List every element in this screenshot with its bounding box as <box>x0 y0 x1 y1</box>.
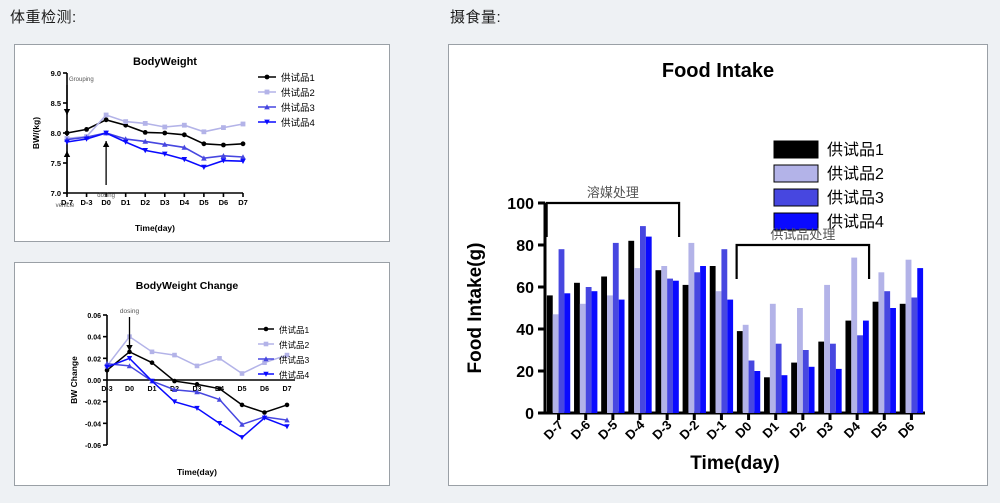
bar-D5-s2 <box>878 272 884 413</box>
legend-swatch-1 <box>774 141 818 158</box>
chart-title: Food Intake <box>662 60 774 82</box>
x-tick-label: D4 <box>841 418 864 441</box>
bar-D-1-s4 <box>727 300 733 413</box>
x-tick-label: D-1 <box>704 417 729 442</box>
bar-D1-s3 <box>776 344 782 413</box>
x-tick-label: D-3 <box>81 198 93 207</box>
annotation-bracket <box>547 203 679 237</box>
y-tick-label: -0.06 <box>85 443 101 450</box>
x-tick-label: D7 <box>283 386 292 393</box>
bar-D0-s4 <box>754 371 760 413</box>
legend-label-2: 供试品2 <box>827 165 884 183</box>
y-tick-label: 0.04 <box>87 335 101 342</box>
x-axis-label: Time(day) <box>177 467 217 477</box>
bodyweight-chart-panel: BodyWeight7.07.58.08.59.0D-7D-3D0D1D2D3D… <box>14 44 390 242</box>
series-marker <box>104 117 109 122</box>
legend-marker-1 <box>264 327 269 332</box>
x-tick-label: D-3 <box>101 386 112 393</box>
bar-D3-s2 <box>824 285 830 413</box>
x-tick-label: D6 <box>219 198 229 207</box>
y-tick-label: 0.02 <box>87 356 101 363</box>
legend-label-1: 供试品1 <box>281 72 315 84</box>
x-tick-label: D-6 <box>568 417 593 442</box>
bar-D6-s2 <box>906 260 912 413</box>
series-marker <box>240 403 245 408</box>
bar-D0-s1 <box>737 331 743 413</box>
annotation-arrow-head <box>64 109 70 115</box>
legend-label-4: 供试品4 <box>279 370 310 380</box>
bar-D3-s4 <box>836 369 842 413</box>
bar-D3-s3 <box>830 344 836 413</box>
bar-D-5-s3 <box>613 243 619 413</box>
bar-D-1-s3 <box>721 249 727 413</box>
series-marker <box>221 143 226 148</box>
series-marker <box>182 132 187 137</box>
y-axis-label: BW/(kg) <box>31 117 41 149</box>
bar-D-4-s1 <box>628 241 634 413</box>
y-tick-label: 0 <box>525 406 534 423</box>
legend-label-3: 供试品3 <box>827 189 884 207</box>
bar-D-1-s1 <box>710 266 716 413</box>
chart-title: BodyWeight <box>133 56 197 68</box>
bar-D1-s1 <box>764 377 770 413</box>
annotation-label: 溶媒处理 <box>587 185 639 200</box>
x-tick-label: D-2 <box>676 417 701 442</box>
series-marker <box>143 121 148 126</box>
bar-D-7-s4 <box>564 293 570 413</box>
bar-D-1-s2 <box>716 291 722 413</box>
series-marker <box>143 130 148 135</box>
bar-D-7-s3 <box>559 249 565 413</box>
y-tick-label: 8.0 <box>51 129 61 138</box>
bar-D-2-s2 <box>688 243 694 413</box>
series-marker <box>217 386 222 391</box>
x-tick-label: D-4 <box>622 417 648 443</box>
series-marker <box>221 125 226 130</box>
x-tick-label: D-5 <box>595 417 620 442</box>
series-marker <box>182 123 187 128</box>
annotation-label: vehicle <box>56 203 75 209</box>
series-marker <box>241 141 246 146</box>
x-tick-label: D0 <box>101 198 111 207</box>
y-tick-label: 7.0 <box>51 189 61 198</box>
bar-D6-s1 <box>900 304 906 413</box>
bar-D5-s1 <box>873 302 879 413</box>
annotation-arrow-head <box>126 345 132 351</box>
legend-label-3: 供试品3 <box>279 355 310 365</box>
x-tick-label: D6 <box>260 386 269 393</box>
y-axis-label: BW Change <box>69 356 79 404</box>
series-line-1 <box>67 120 243 145</box>
annotation-label: dosing <box>97 193 115 199</box>
bar-D4-s4 <box>863 321 869 413</box>
food-intake-chart-panel: Food Intake供试品1供试品2供试品3供试品4020406080100F… <box>448 44 988 486</box>
annotation-arrow-head <box>64 151 70 157</box>
bar-D6-s3 <box>911 298 917 414</box>
series-marker <box>284 424 289 429</box>
series-marker <box>172 353 177 358</box>
chart-title: BodyWeight Change <box>136 280 239 292</box>
bar-D2-s1 <box>791 363 797 413</box>
x-tick-label: D-7 <box>541 417 566 442</box>
x-axis-label: Time(day) <box>690 453 779 474</box>
x-tick-label: D3 <box>160 198 170 207</box>
bar-D2-s4 <box>809 367 815 413</box>
series-marker <box>104 113 109 118</box>
bodyweight-section-label: 体重检测: <box>10 6 77 27</box>
legend-swatch-3 <box>774 189 818 206</box>
y-tick-label: -0.02 <box>85 400 101 407</box>
bar-D0-s3 <box>749 361 755 414</box>
bodyweight-change-chart: BodyWeight Change-0.06-0.04-0.020.000.02… <box>15 263 389 485</box>
annotation-label: Grouping <box>69 77 94 83</box>
bar-D6-s4 <box>917 268 923 413</box>
bar-D-3-s1 <box>655 270 661 413</box>
bar-D-4-s2 <box>634 268 640 413</box>
series-marker <box>195 364 200 369</box>
series-line-4 <box>67 133 243 167</box>
bar-D-3-s4 <box>673 281 679 413</box>
x-axis-label: Time(day) <box>135 223 175 233</box>
bar-D2-s3 <box>803 350 809 413</box>
bar-D2-s2 <box>797 308 803 413</box>
x-tick-label: D2 <box>786 419 808 441</box>
x-tick-label: D1 <box>121 198 131 207</box>
series-marker <box>239 435 244 440</box>
bodyweight-chart: BodyWeight7.07.58.08.59.0D-7D-3D0D1D2D3D… <box>15 45 389 241</box>
x-tick-label: D5 <box>238 386 247 393</box>
y-tick-label: 40 <box>516 322 534 339</box>
bar-D-6-s2 <box>580 304 586 413</box>
bar-D0-s2 <box>743 325 749 413</box>
bar-D-6-s4 <box>592 291 598 413</box>
annotation-bracket <box>737 245 869 279</box>
bar-D-7-s1 <box>547 295 553 413</box>
series-marker <box>84 127 89 132</box>
bar-D-5-s2 <box>607 295 613 413</box>
y-tick-label: 20 <box>516 364 534 381</box>
bar-D4-s1 <box>845 321 851 413</box>
y-tick-label: 8.5 <box>51 99 61 108</box>
bar-D-5-s4 <box>619 300 625 413</box>
bar-D-4-s4 <box>646 237 652 413</box>
series-line-4 <box>107 358 287 437</box>
series-marker <box>241 122 246 127</box>
bar-D-3-s3 <box>667 279 673 413</box>
legend-label-1: 供试品1 <box>827 141 884 159</box>
bar-D-4-s3 <box>640 226 646 413</box>
legend-label-4: 供试品4 <box>827 213 884 231</box>
bar-D5-s3 <box>884 291 890 413</box>
bar-D5-s4 <box>890 308 896 413</box>
bar-D-7-s2 <box>553 314 559 413</box>
legend-marker-2 <box>264 342 269 347</box>
y-tick-label: 9.0 <box>51 69 61 78</box>
series-marker <box>162 131 167 136</box>
bar-D-6-s3 <box>586 287 592 413</box>
bar-D-6-s1 <box>574 283 580 413</box>
legend-label-3: 供试品3 <box>281 102 315 114</box>
series-marker <box>201 141 206 146</box>
x-tick-label: D5 <box>868 419 890 441</box>
y-tick-label: 0.06 <box>87 313 101 320</box>
x-tick-label: D-3 <box>649 417 674 442</box>
y-tick-label: 100 <box>507 196 534 213</box>
series-marker <box>285 403 290 408</box>
x-tick-label: D0 <box>125 386 134 393</box>
series-marker <box>240 371 245 376</box>
y-tick-label: -0.04 <box>85 421 101 428</box>
series-marker <box>217 356 222 361</box>
y-tick-label: 0.00 <box>87 378 101 385</box>
annotation-label: dosing <box>120 308 140 315</box>
x-tick-label: D5 <box>199 198 209 207</box>
legend-label-2: 供试品2 <box>281 87 315 99</box>
legend-marker-2 <box>265 90 270 95</box>
y-tick-label: 60 <box>516 280 534 297</box>
x-tick-label: D3 <box>814 419 836 441</box>
x-tick-label: D7 <box>238 198 248 207</box>
bar-D1-s2 <box>770 304 776 413</box>
annotation-arrow-head <box>103 141 109 147</box>
legend-label-2: 供试品2 <box>279 340 310 350</box>
series-marker <box>150 350 155 355</box>
bar-D-2-s3 <box>694 272 700 413</box>
series-marker <box>195 382 200 387</box>
bar-D1-s4 <box>782 375 788 413</box>
bar-D-2-s1 <box>683 285 689 413</box>
y-tick-label: 80 <box>516 238 534 255</box>
series-marker <box>262 410 267 415</box>
series-marker <box>201 165 207 170</box>
x-tick-label: D1 <box>148 386 157 393</box>
food-intake-section-label: 摄食量: <box>450 6 501 27</box>
y-tick-label: 7.5 <box>51 159 61 168</box>
series-marker <box>123 119 128 124</box>
x-tick-label: D0 <box>732 419 754 441</box>
legend-label-1: 供试品1 <box>279 325 310 335</box>
series-marker <box>172 379 177 384</box>
annotation-label: 供试品处理 <box>770 227 835 242</box>
bar-D-2-s4 <box>700 266 706 413</box>
series-marker <box>65 131 70 136</box>
x-tick-label: D2 <box>140 198 150 207</box>
y-axis-label: Food Intake(g) <box>465 243 486 374</box>
bodyweight-change-chart-panel: BodyWeight Change-0.06-0.04-0.020.000.02… <box>14 262 390 486</box>
bar-D-3-s2 <box>661 266 667 413</box>
x-tick-label: D1 <box>759 419 781 441</box>
x-tick-label: D4 <box>180 198 190 207</box>
legend-label-4: 供试品4 <box>281 117 315 129</box>
bar-D-5-s1 <box>601 277 607 414</box>
bar-D3-s1 <box>818 342 824 413</box>
series-marker <box>150 360 155 365</box>
bar-D4-s3 <box>857 335 863 413</box>
legend-swatch-2 <box>774 165 818 182</box>
series-marker <box>201 129 206 134</box>
series-marker <box>162 125 167 130</box>
food-intake-chart: Food Intake供试品1供试品2供试品3供试品4020406080100F… <box>449 45 987 485</box>
x-tick-label: D6 <box>895 419 917 441</box>
legend-marker-1 <box>265 75 270 80</box>
bar-D4-s2 <box>851 258 857 413</box>
